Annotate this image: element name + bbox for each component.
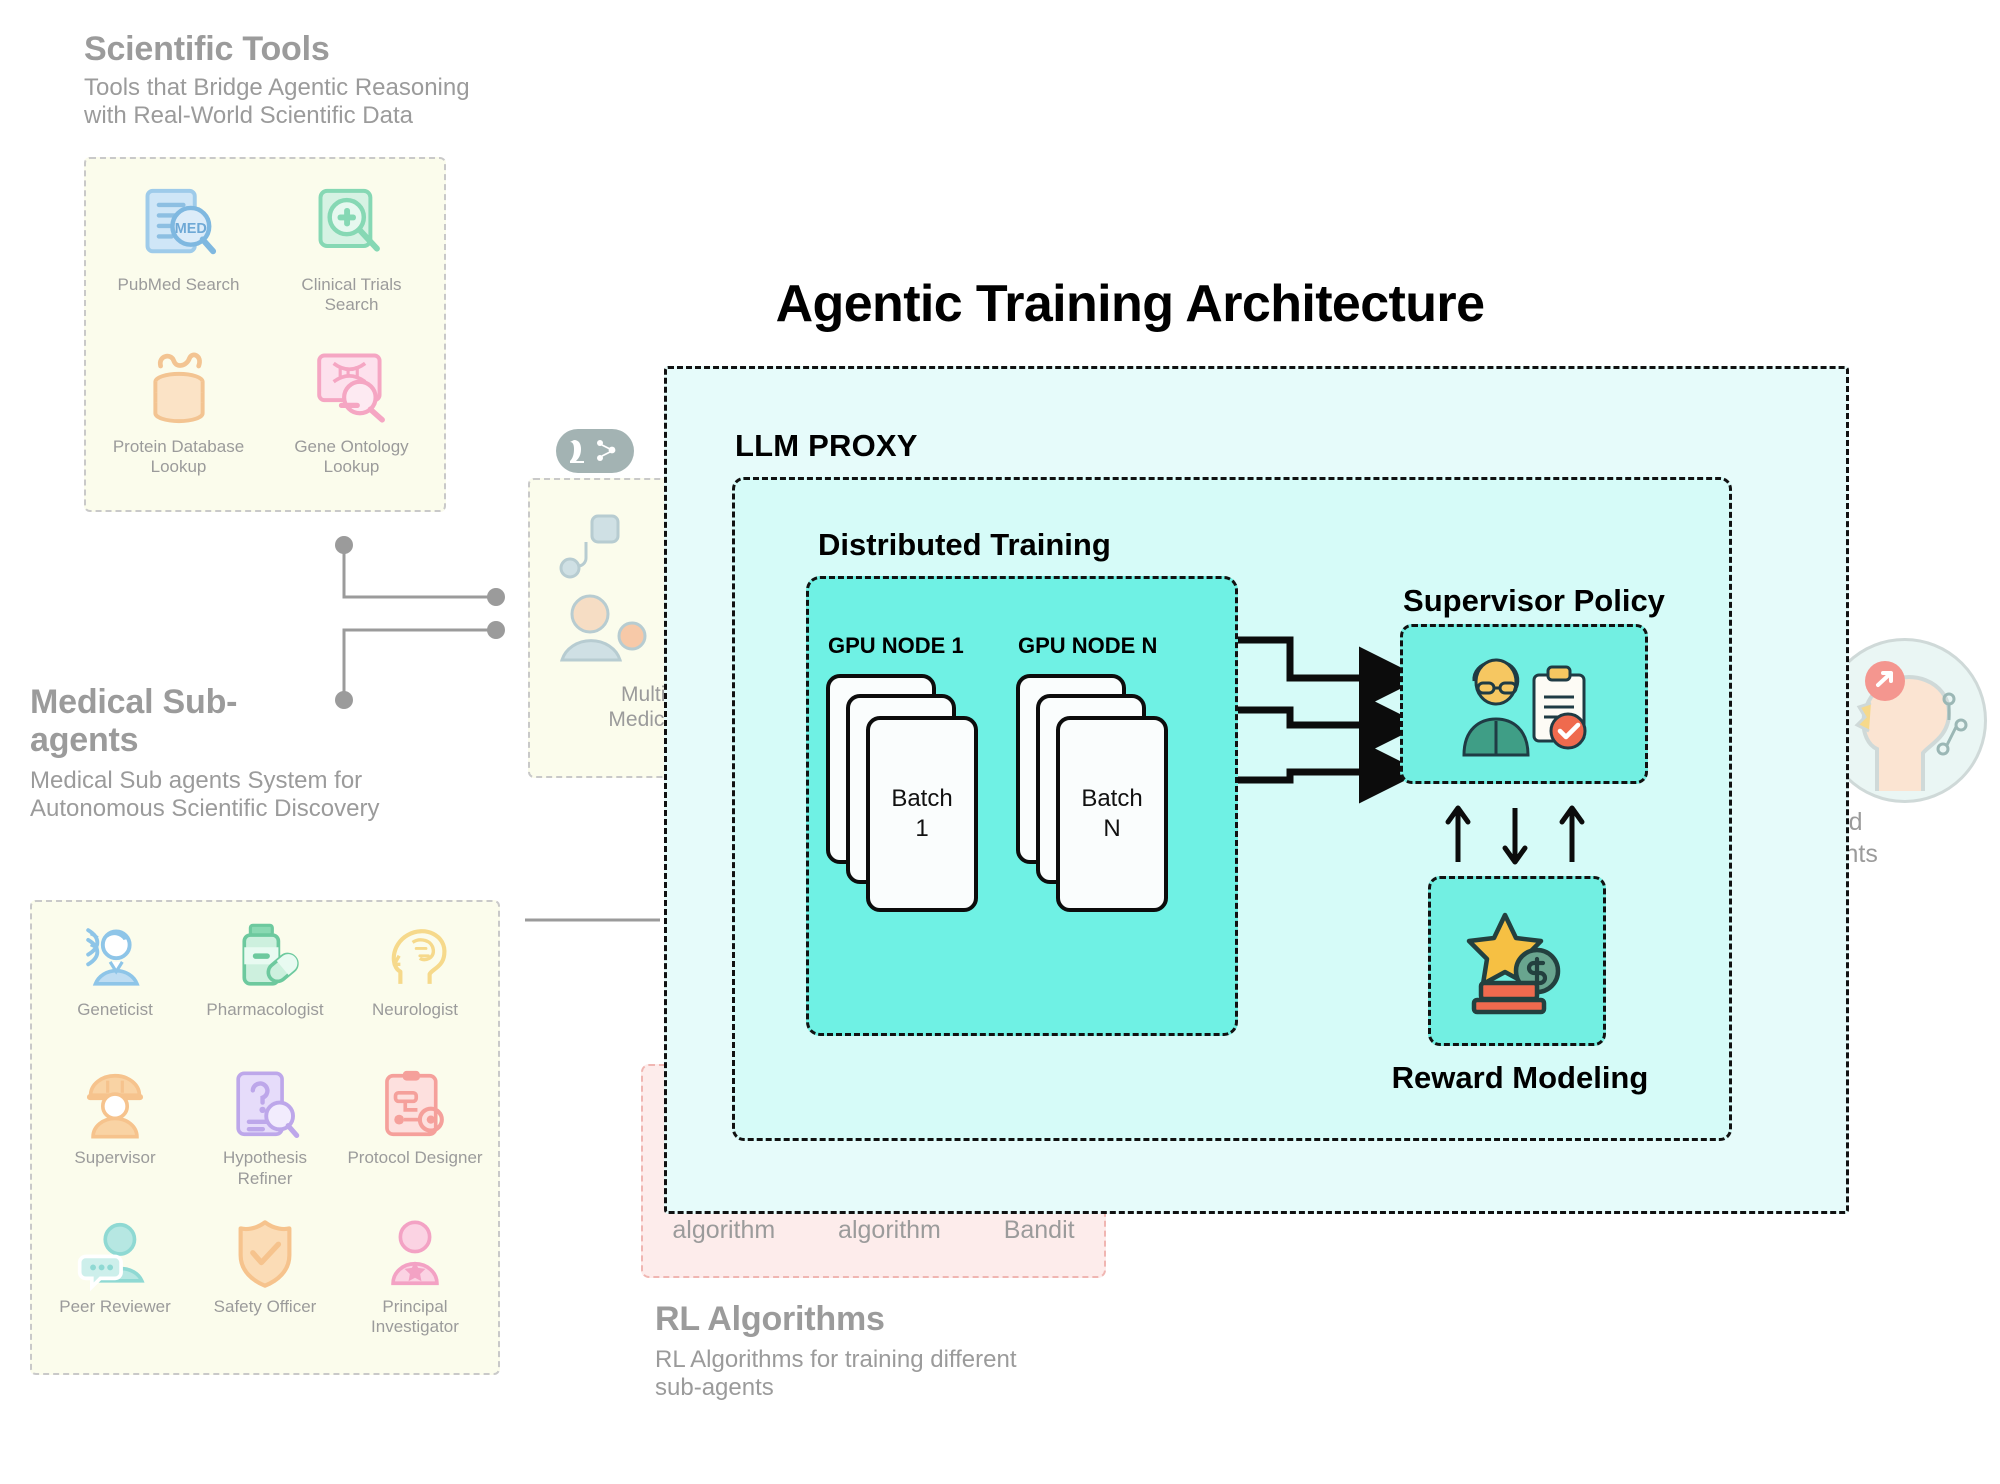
star-trophy-coin-icon [1457, 901, 1577, 1021]
distributed-training-label: Distributed Training [818, 527, 1111, 563]
agent-item-protocol-designer[interactable]: Protocol Designer [340, 1066, 490, 1214]
scientific-tools-heading-block: Scientific Tools Tools that Bridge Agent… [84, 30, 604, 131]
supervisor-hardhat-person-icon [76, 1066, 154, 1144]
svg-text:MED: MED [174, 221, 206, 237]
scientific-tools-box: MED PubMed Search Clinical Trials Search [84, 157, 446, 512]
medical-subagents-subtitle: Medical Sub agents System for Autonomous… [30, 767, 430, 824]
gpu-node-1-batch-stack: Batch 1 [826, 674, 976, 914]
agent-item-principal-investigator[interactable]: Principal Investigator [340, 1215, 490, 1363]
rl-algorithms-title: RL Algorithms [655, 1300, 1125, 1338]
rl-word-1: algorithm [838, 1216, 941, 1245]
reward-modeling-box[interactable] [1428, 876, 1606, 1046]
principal-investigator-star-person-icon [376, 1215, 454, 1293]
clinical-trials-plus-search-icon [310, 183, 394, 267]
agent-item-safety-officer[interactable]: Safety Officer [190, 1215, 340, 1363]
gpu-node-1-label: GPU NODE 1 [828, 633, 964, 659]
agent-item-neurologist[interactable]: Neurologist [340, 918, 490, 1066]
agent-label: Neurologist [372, 1000, 458, 1020]
supervisor-policy-box[interactable] [1400, 624, 1648, 784]
tool-item-clinical-trials-search[interactable]: Clinical Trials Search [265, 173, 438, 335]
agent-item-hypothesis-refiner[interactable]: Hypothesis Refiner [190, 1066, 340, 1214]
medical-subagents-box: Geneticist Pharmacologist [30, 900, 500, 1375]
agent-label: Hypothesis Refiner [195, 1148, 335, 1189]
agent-label: Geneticist [77, 1000, 153, 1020]
ai-head-network-icon [1825, 641, 1987, 803]
protein-database-icon [137, 345, 221, 429]
tool-label: Protein Database Lookup [109, 437, 249, 477]
hypothesis-question-magnifier-icon [226, 1066, 304, 1144]
batch-1-label: Batch 1 [891, 784, 952, 844]
bird-network-chip-icon [564, 436, 626, 466]
tool-item-gene-ontology-lookup[interactable]: Gene Ontology Lookup [265, 335, 438, 497]
rl-algorithms-heading-block: RL Algorithms RL Algorithms for training… [655, 1300, 1125, 1403]
tool-label: Gene Ontology Lookup [282, 437, 422, 477]
rl-algorithms-subtitle: RL Algorithms for training different sub… [655, 1346, 1035, 1403]
protocol-clipboard-gear-icon [376, 1066, 454, 1144]
neurologist-brain-head-icon [376, 918, 454, 996]
diagram-canvas: Scientific Tools Tools that Bridge Agent… [0, 0, 2000, 1484]
gene-ontology-monitor-dna-icon [310, 345, 394, 429]
agent-item-pharmacologist[interactable]: Pharmacologist [190, 918, 340, 1066]
peer-reviewer-chat-person-icon [76, 1215, 154, 1293]
batch-n-label: Batch N [1081, 784, 1142, 844]
medical-subagents-title: Medical Sub-agents [30, 683, 320, 759]
supervisor-policy-label: Supervisor Policy [1369, 583, 1699, 619]
agent-item-geneticist[interactable]: Geneticist [40, 918, 190, 1066]
tool-item-pubmed-search[interactable]: MED PubMed Search [92, 173, 265, 335]
supervisor-reward-exchange-arrows [1440, 800, 1610, 870]
scientific-tools-subtitle: Tools that Bridge Agentic Reasoning with… [84, 74, 504, 131]
agent-label: Pharmacologist [206, 1000, 323, 1020]
agent-label: Safety Officer [214, 1297, 317, 1317]
reward-modeling-label: Reward Modeling [1340, 1060, 1700, 1096]
batch-card-front[interactable]: Batch N [1056, 716, 1168, 912]
medical-subagents-heading-block: Medical Sub-agents Medical Sub agents Sy… [30, 683, 500, 824]
agent-label: Principal Investigator [345, 1297, 485, 1338]
gpu-node-n-batch-stack: Batch N [1016, 674, 1166, 914]
pubmed-document-search-icon: MED [137, 183, 221, 267]
agent-item-peer-reviewer[interactable]: Peer Reviewer [40, 1215, 190, 1363]
rl-word-2: Bandit [1004, 1216, 1075, 1245]
multi-agent-chip [556, 429, 634, 473]
tool-label: Clinical Trials Search [282, 275, 422, 315]
multi-agent-team-icon [540, 510, 670, 680]
rl-word-0: algorithm [672, 1216, 775, 1245]
gpu-node-n-label: GPU NODE N [1018, 633, 1157, 659]
agent-label: Protocol Designer [347, 1148, 482, 1168]
rl-algorithms-words: algorithm algorithm Bandit [641, 1216, 1106, 1245]
agent-label: Peer Reviewer [59, 1297, 171, 1317]
scientific-tools-title: Scientific Tools [84, 30, 604, 68]
architecture-title: Agentic Training Architecture [660, 274, 1600, 334]
llm-proxy-label: LLM PROXY [735, 428, 918, 464]
safety-shield-check-icon [226, 1215, 304, 1293]
agent-label: Supervisor [74, 1148, 155, 1168]
tool-item-protein-database-lookup[interactable]: Protein Database Lookup [92, 335, 265, 497]
supervisor-clipboard-check-icon [1442, 647, 1607, 762]
batch-card-front[interactable]: Batch 1 [866, 716, 978, 912]
pharmacologist-pill-bottle-icon [226, 918, 304, 996]
agent-item-supervisor[interactable]: Supervisor [40, 1066, 190, 1214]
tool-label: PubMed Search [118, 275, 240, 295]
geneticist-dna-person-icon [76, 918, 154, 996]
